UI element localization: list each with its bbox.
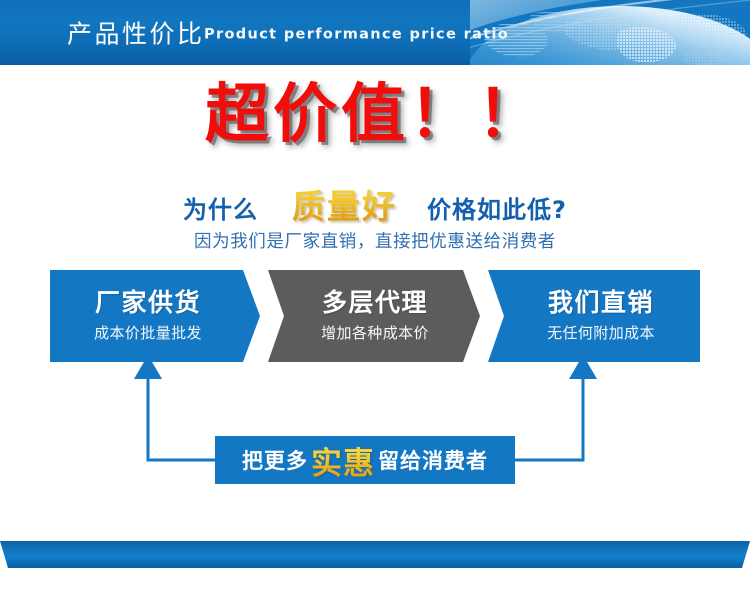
subtitle-good-quality: 质量好 <box>292 180 397 228</box>
flow-box-title: 厂家供货 <box>95 289 201 317</box>
reason-text: 因为我们是厂家直销，直接把优惠送给消费者 <box>0 228 750 253</box>
headline-super-value: 超价值！！ <box>0 82 750 149</box>
subtitle-why: 为什么 <box>183 190 258 225</box>
subtitle-so-cheap: 价格如此低? <box>427 190 567 225</box>
flow-box-direct-sales: 我们直销 无任何附加成本 <box>488 270 700 362</box>
flow-box-multi-layer-agency: 多层代理 增加各种成本价 <box>268 270 480 362</box>
flow-box-subtitle: 无任何附加成本 <box>547 322 655 343</box>
flow-box-subtitle: 增加各种成本价 <box>321 322 429 343</box>
bottom-benefit-banner: 把更多 实惠 留给消费者 <box>215 436 515 484</box>
header-banner: 产品性价比 Product performance price ratio <box>0 0 750 65</box>
header-title-cn: 产品性价比 <box>67 14 205 50</box>
banner-text-after: 留给消费者 <box>378 445 488 475</box>
world-globe-halftone-icon <box>470 0 750 65</box>
flow-box-title: 我们直销 <box>548 289 654 317</box>
product-price-ratio-poster: 产品性价比 Product performance price ratio 超价… <box>0 0 750 590</box>
subtitle-row: 为什么 质量好 价格如此低? <box>0 180 750 228</box>
header-title-en: Product performance price ratio <box>204 26 509 42</box>
flow-box-factory-supply: 厂家供货 成本价批量批发 <box>50 270 260 362</box>
footer-bar <box>0 541 750 568</box>
banner-text-discount: 实惠 <box>311 438 375 483</box>
banner-text-before: 把更多 <box>242 445 308 475</box>
supply-chain-flow: 厂家供货 成本价批量批发 多层代理 增加各种成本价 我们直销 无任何附加成本 <box>50 270 700 362</box>
flow-box-subtitle: 成本价批量批发 <box>94 322 202 343</box>
flow-box-title: 多层代理 <box>322 289 428 317</box>
